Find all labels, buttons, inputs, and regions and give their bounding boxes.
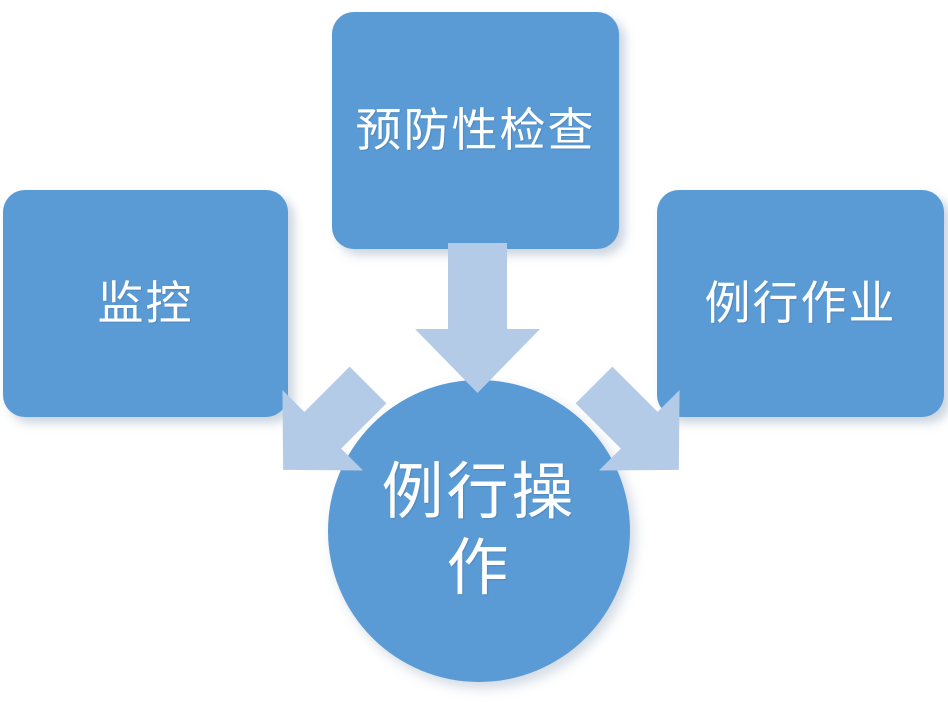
node-label-routine-operation: 例行操 作 — [381, 455, 576, 606]
node-box-preventive-inspection[interactable]: 预防性检查 — [332, 12, 619, 249]
arrow-down-icon — [415, 243, 540, 393]
arrow-down-shape — [415, 243, 540, 393]
node-box-monitoring[interactable]: 监控 — [3, 190, 288, 417]
node-box-routine-job[interactable]: 例行作业 — [657, 190, 944, 417]
node-circle-routine-operation[interactable]: 例行操 作 — [328, 380, 630, 682]
node-label-preventive-inspection: 预防性检查 — [356, 104, 596, 157]
node-label-routine-job: 例行作业 — [705, 277, 897, 330]
diagram-canvas: 预防性检查 监控 例行作业 例行操 作 — [0, 0, 948, 705]
node-label-monitoring: 监控 — [98, 277, 194, 330]
